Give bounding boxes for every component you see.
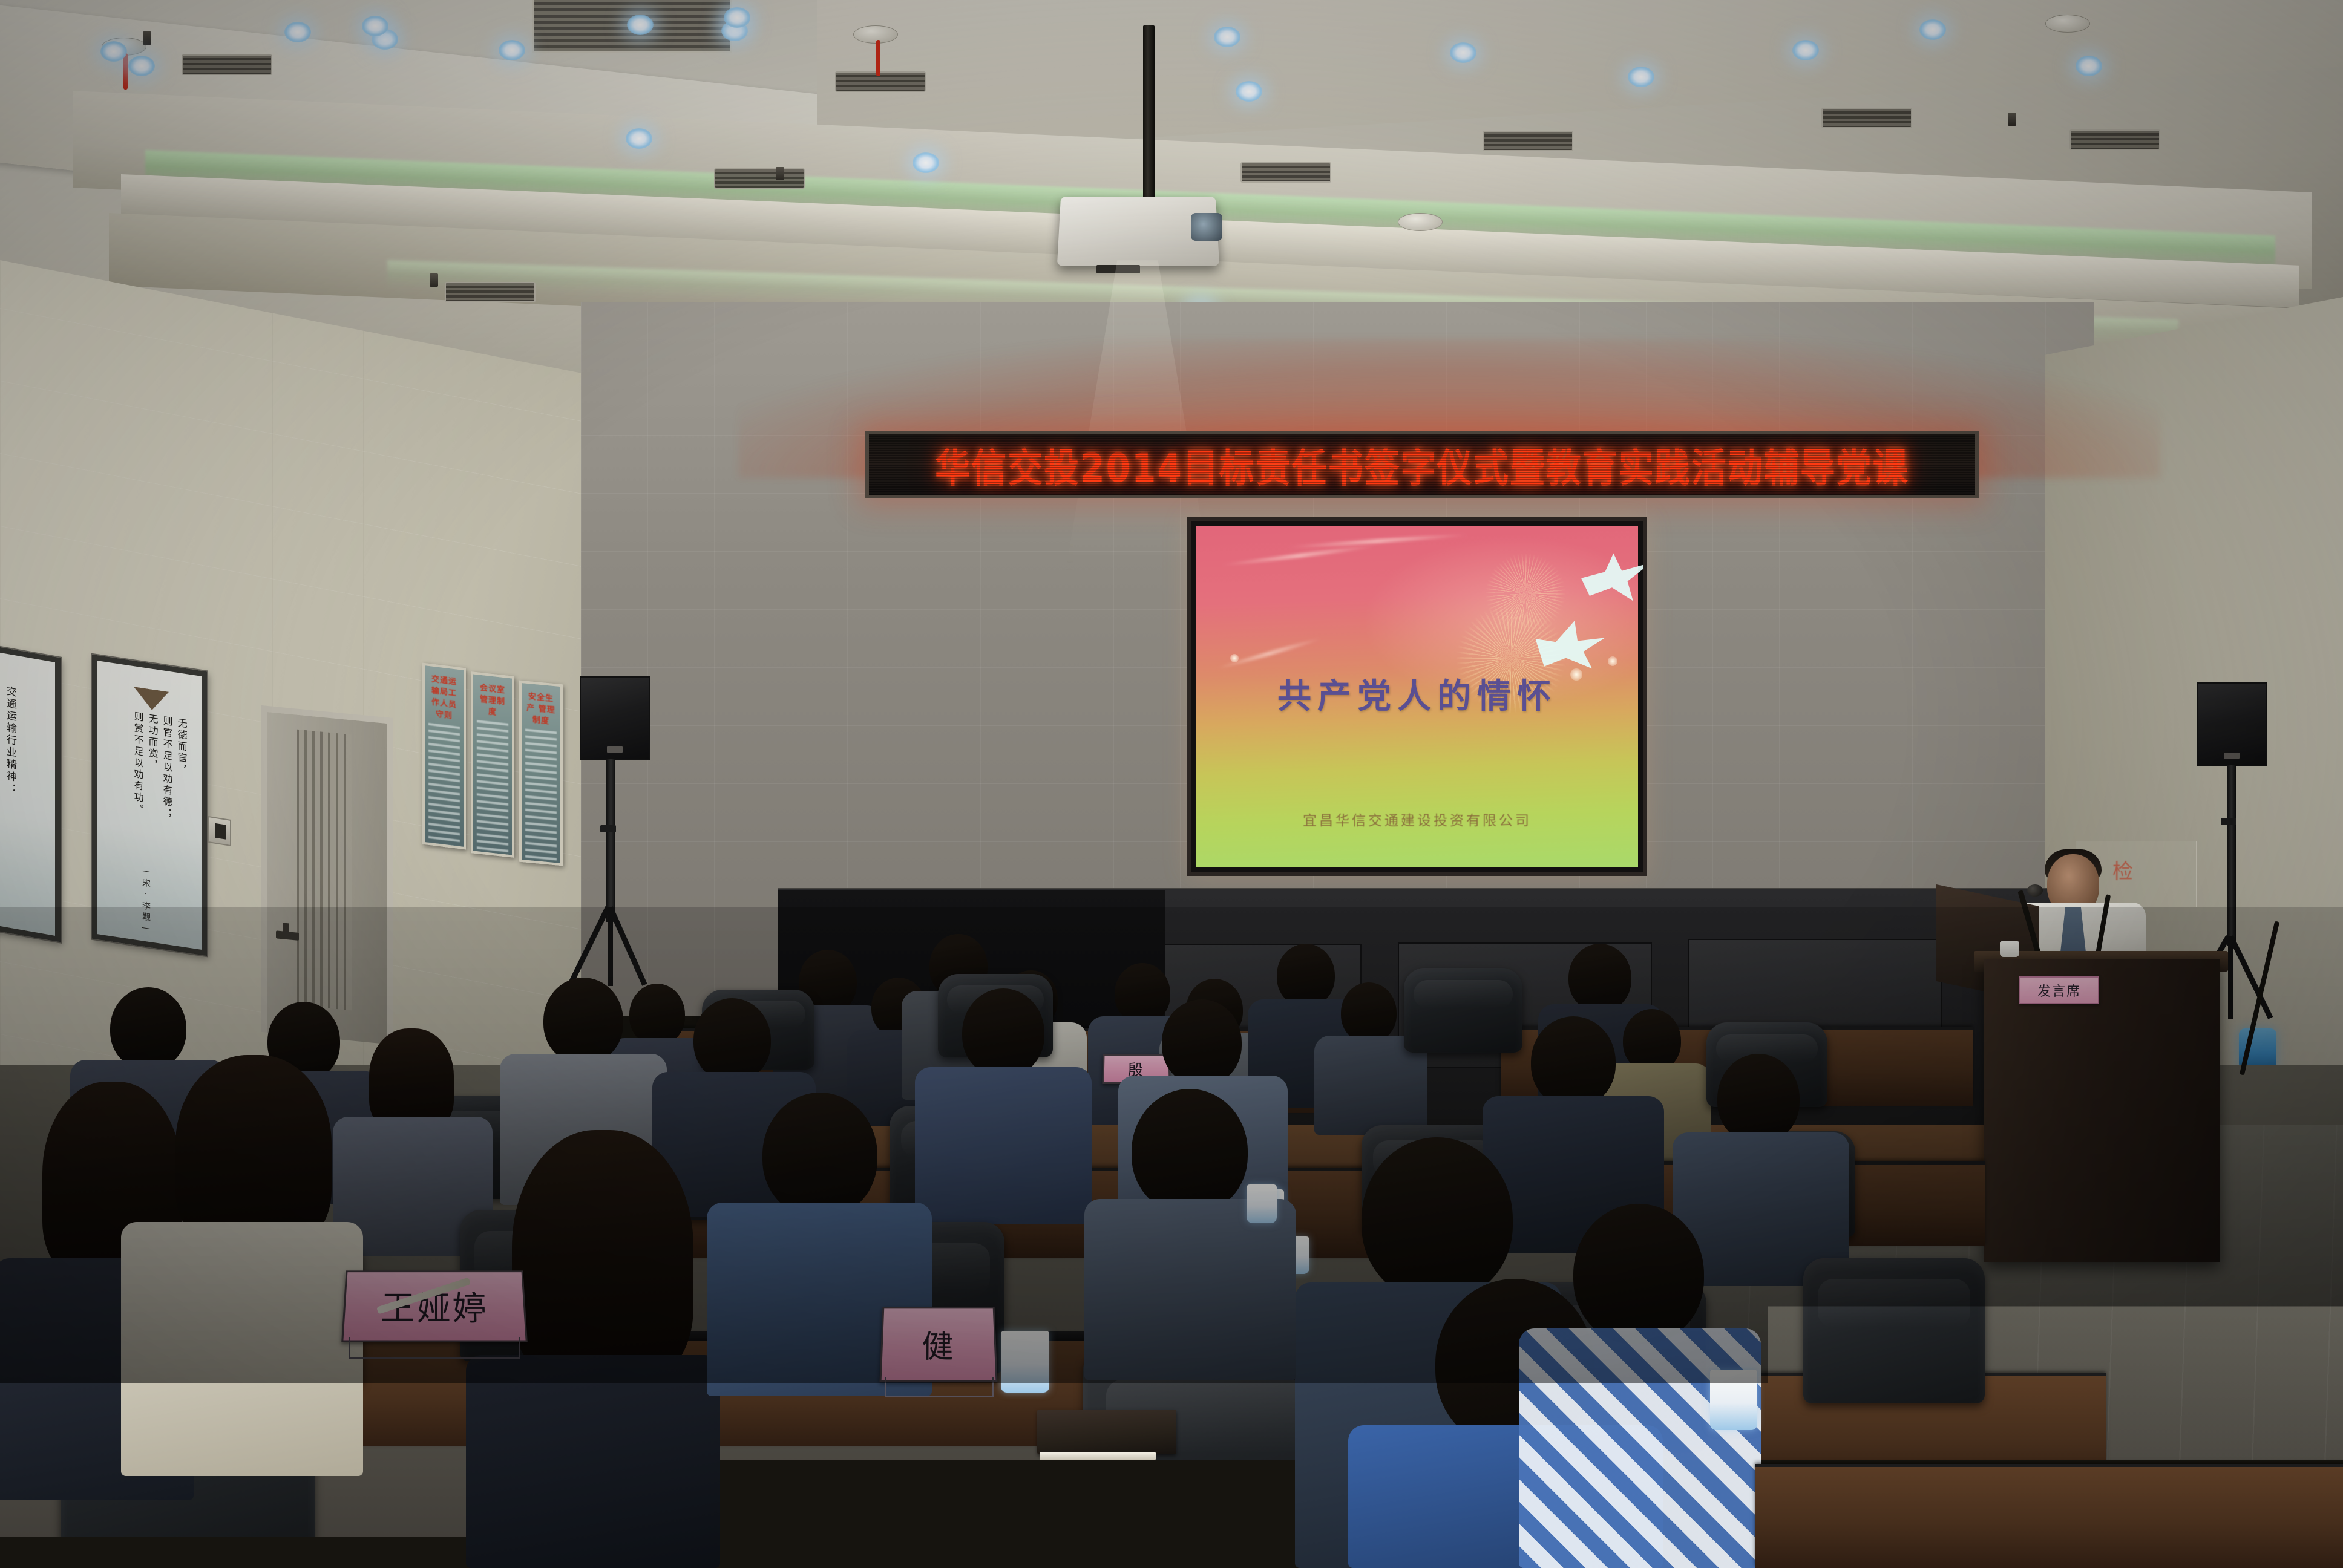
person-head xyxy=(693,998,771,1082)
bulletin-board-3-body xyxy=(525,729,557,866)
air-vent xyxy=(714,168,805,189)
pa-speaker-logo xyxy=(607,746,623,753)
wall-socket[interactable] xyxy=(208,816,231,846)
bulletin-board-2: 会议室管理制度 xyxy=(471,671,514,858)
person-head xyxy=(1717,1054,1800,1143)
nameplate-front-mid-text: 健 xyxy=(922,1322,955,1367)
person-head xyxy=(1623,1009,1681,1072)
nameplate-front-left: 王娅婷 xyxy=(341,1270,528,1342)
person-head xyxy=(543,978,623,1063)
podium-cup xyxy=(2000,941,2019,957)
sprinkler-head-icon xyxy=(143,31,151,45)
smoke-detector-icon xyxy=(853,25,898,44)
smoke-detector-icon xyxy=(2045,15,2090,33)
audience-chair[interactable] xyxy=(1174,1464,1513,1568)
logo-slash xyxy=(2175,1524,2191,1550)
nameplate-stand xyxy=(349,1337,520,1359)
ceiling-downlight xyxy=(627,15,654,35)
person-head xyxy=(110,987,186,1070)
slide-background: 共产党人的情怀 宜昌华信交通建设投资有限公司 xyxy=(1196,526,1638,867)
ceiling-downlight xyxy=(1792,40,1819,60)
microphone-head-icon xyxy=(2027,884,2043,897)
ceiling-downlight xyxy=(128,56,155,76)
pa-speaker-left-clamp xyxy=(600,825,616,832)
conference-hall-photo: 交通运输行业精神： 无德而官， 则官不足以劝有德； 无功而赏， 则赏不足以劝有功… xyxy=(0,0,2343,1568)
quote-line-3: 无功而赏， xyxy=(146,713,159,772)
person-head xyxy=(762,1093,877,1217)
air-vent xyxy=(835,71,926,92)
ceiling-downlight xyxy=(362,16,388,36)
notebook xyxy=(1037,1410,1176,1454)
air-vent xyxy=(1240,162,1331,183)
person-head xyxy=(175,1055,332,1249)
pa-speaker-right-clamp xyxy=(2221,818,2236,825)
nameplate-stand xyxy=(885,1377,994,1397)
quote-line-2: 则官不足以劝有德； xyxy=(160,715,174,820)
slide-wisp xyxy=(1287,533,1469,550)
bulletin-board-1-body xyxy=(428,723,460,850)
chevron-down-icon xyxy=(134,687,169,713)
watermark: 华信交投 www.ychxjt.cn xyxy=(2168,1517,2326,1556)
paper-cup xyxy=(1001,1331,1049,1393)
watermark-url: www.ychxjt.cn xyxy=(2215,1544,2326,1555)
side-door[interactable] xyxy=(261,705,393,1045)
ceiling-downlight xyxy=(1236,81,1262,102)
person-head xyxy=(512,1130,693,1384)
projector-lens-icon xyxy=(1191,213,1222,241)
bulletin-board-2-body xyxy=(477,720,508,858)
ceiling-downlight xyxy=(724,7,750,28)
air-vent xyxy=(1821,108,1912,128)
person-head xyxy=(1573,1204,1704,1344)
person-head xyxy=(1341,982,1397,1043)
ceiling-downlight xyxy=(100,41,127,62)
person-torso xyxy=(121,1222,363,1476)
person-torso xyxy=(915,1067,1092,1224)
air-vent xyxy=(445,282,536,302)
ceiling-downlight xyxy=(1919,19,1946,40)
person-torso-plaid-shirt xyxy=(1519,1328,1761,1568)
pa-speaker-left xyxy=(580,676,650,760)
ceiling-downlight xyxy=(1628,67,1654,87)
wall-poster-quote: 无德而官， 则官不足以劝有德； 无功而赏， 则赏不足以劝有功。 —宋·李觏— xyxy=(92,655,207,956)
sparkle-icon xyxy=(1608,656,1617,666)
person-head xyxy=(1362,1137,1513,1301)
person-head xyxy=(1568,944,1631,1011)
person-head xyxy=(1531,1016,1616,1107)
ceiling-downlight xyxy=(284,22,311,42)
bulletin-board-3-header: 安全生产 管理制度 xyxy=(525,690,557,727)
ceiling-downlight xyxy=(1450,42,1476,63)
air-vent xyxy=(182,54,272,75)
poster-wash xyxy=(0,814,55,936)
ceiling-downlight xyxy=(913,152,939,173)
sprinkler-head-icon xyxy=(776,167,784,180)
smoke-detector-icon xyxy=(1398,213,1443,231)
slide-subtitle: 宜昌华信交通建设投资有限公司 xyxy=(1196,809,1638,829)
person-head xyxy=(1277,944,1335,1007)
person-head xyxy=(1132,1089,1248,1214)
person-head xyxy=(1115,963,1170,1024)
ceiling-downlight xyxy=(2076,56,2102,76)
person-head xyxy=(962,988,1044,1077)
led-banner-text: 华信交投2014目标责任书签字仪式暨教育实践活动辅导党课 xyxy=(935,436,1909,493)
person-head xyxy=(1162,999,1242,1085)
audience-chair[interactable] xyxy=(1803,1258,1985,1403)
wall-poster-industry-spirit: 交通运输行业精神： xyxy=(0,644,61,942)
watermark-text-block: 华信交投 www.ychxjt.cn xyxy=(2215,1518,2326,1555)
paper-cup xyxy=(1710,1370,1757,1430)
logo-cut xyxy=(2172,1539,2193,1552)
bulletin-board-2-header: 会议室管理制度 xyxy=(477,681,508,719)
quote-line-4: 则赏不足以劝有功。 xyxy=(131,711,145,816)
pa-tripod-leg xyxy=(608,907,613,986)
air-vent xyxy=(2069,129,2160,150)
projector-mount-pole xyxy=(1143,25,1155,201)
wall-plaque-glyph: 检 xyxy=(2112,855,2133,884)
paper-cup xyxy=(1247,1184,1277,1223)
door-grooves xyxy=(297,730,352,1011)
person-head xyxy=(629,984,685,1045)
bulletin-board-1: 交通运输局工作人员守则 xyxy=(422,663,466,850)
quote-attribution: —宋·李觏— xyxy=(140,866,152,936)
bulletin-board-1-header: 交通运输局工作人员守则 xyxy=(428,672,460,722)
slide-title: 共产党人的情怀 xyxy=(1196,669,1638,718)
wall-poster-industry-spirit-text: 交通运输行业精神： xyxy=(3,685,17,796)
sparkle-icon xyxy=(1230,654,1239,662)
podium-placard: 发言席 xyxy=(2019,976,2099,1004)
pa-speaker-left-pole xyxy=(606,759,615,922)
company-logo-icon xyxy=(2168,1517,2206,1556)
empty-chair[interactable] xyxy=(1404,968,1522,1053)
ceiling-downlight xyxy=(626,128,652,149)
person-torso xyxy=(1084,1199,1296,1380)
led-banner: 华信交投2014目标责任书签字仪式暨教育实践活动辅导党课 xyxy=(865,431,1979,498)
pa-speaker-logo xyxy=(2224,753,2240,759)
pa-speaker-right-pole xyxy=(2227,765,2236,946)
slide-wisp xyxy=(1216,636,1322,670)
watermark-company: 华信交投 xyxy=(2215,1518,2326,1544)
sprinkler-head-icon xyxy=(2008,113,2016,126)
smoke-detector-tag xyxy=(123,53,128,90)
dove-icon xyxy=(1581,551,1647,603)
podium-placard-text: 发言席 xyxy=(2037,981,2081,1000)
pa-speaker-right xyxy=(2197,682,2267,766)
podium xyxy=(1984,959,2220,1262)
ceiling-downlight xyxy=(499,40,525,60)
air-vent xyxy=(1483,131,1573,151)
person-torso xyxy=(466,1355,720,1568)
quote-line-1: 无德而官， xyxy=(175,717,188,776)
ceiling-downlight xyxy=(1214,27,1240,47)
bulletin-board-3: 安全生产 管理制度 xyxy=(519,681,563,866)
nameplate-front-mid: 健 xyxy=(879,1307,997,1382)
smoke-detector-tag xyxy=(876,40,880,76)
person-head xyxy=(369,1028,454,1131)
door-handle-icon[interactable] xyxy=(276,930,299,941)
sprinkler-head-icon xyxy=(430,273,438,287)
pa-tripod-leg xyxy=(2228,936,2233,1019)
projection-screen: 共产党人的情怀 宜昌华信交通建设投资有限公司 xyxy=(1187,517,1647,876)
